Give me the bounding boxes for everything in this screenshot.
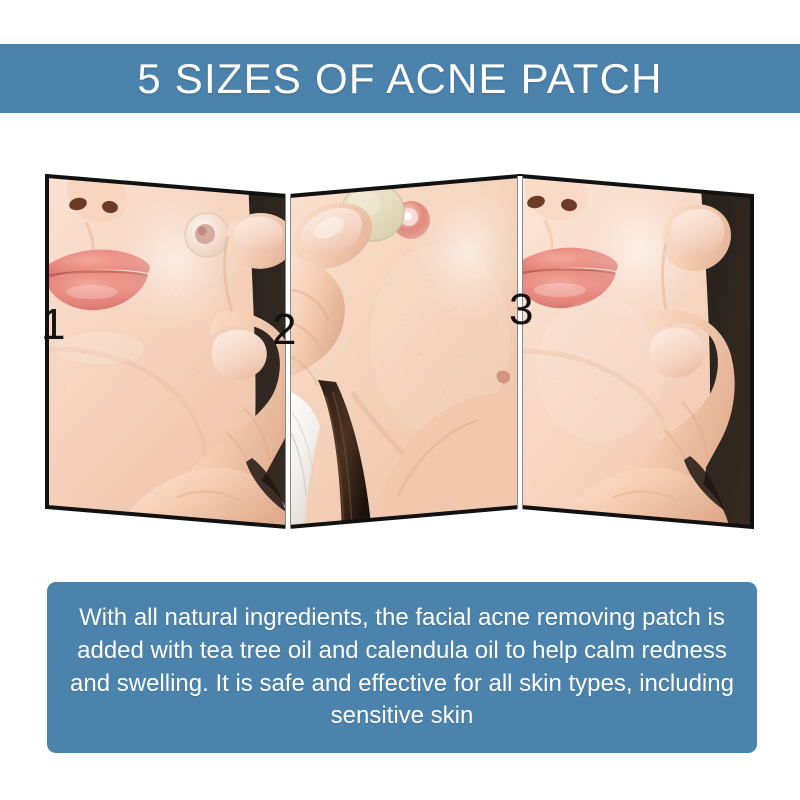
accordion-panels-svg [0, 140, 800, 540]
step-number-3: 3 [509, 288, 533, 332]
step-photo-2 [285, 170, 528, 535]
photo-accordion: 1 2 3 [0, 140, 800, 540]
description-box: With all natural ingredients, the facial… [47, 582, 757, 753]
description-text: With all natural ingredients, the facial… [69, 602, 735, 734]
step-photo-3 [512, 160, 760, 535]
step-photo-1 [40, 166, 297, 535]
step-number-1: 1 [41, 303, 65, 347]
step-number-2: 2 [272, 308, 296, 352]
page-title: 5 SIZES OF ACNE PATCH [137, 58, 662, 100]
header-banner: 5 SIZES OF ACNE PATCH [0, 44, 800, 113]
